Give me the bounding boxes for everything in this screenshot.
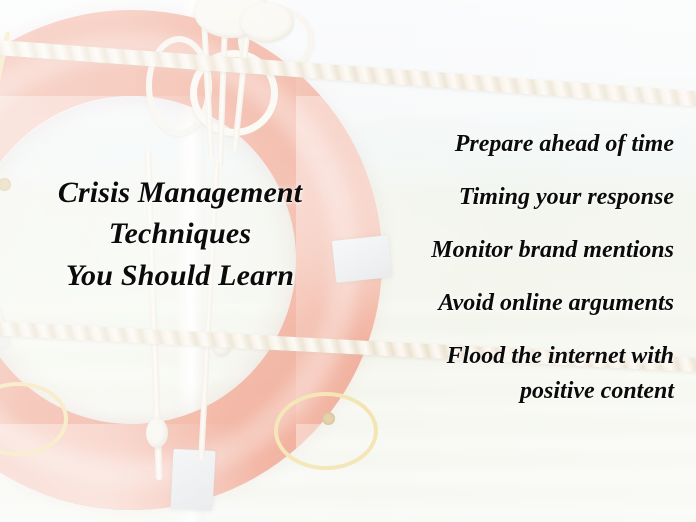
list-item-line-1: Flood the internet with: [447, 343, 674, 369]
list-item-line-2: positive content: [344, 379, 674, 403]
slide-canvas: Crisis Management Techniques You Should …: [0, 0, 696, 522]
list-item: Flood the internet with positive content: [344, 344, 674, 403]
list-item: Timing your response: [344, 185, 674, 209]
page-title: Crisis Management Techniques You Should …: [30, 172, 330, 296]
title-line-2: Techniques: [30, 213, 330, 254]
techniques-list: Prepare ahead of time Timing your respon…: [344, 132, 674, 403]
title-line-1: Crisis Management: [30, 172, 330, 213]
list-item: Monitor brand mentions: [344, 238, 674, 262]
title-line-3: You Should Learn: [30, 255, 330, 296]
list-item: Prepare ahead of time: [344, 132, 674, 156]
list-item: Avoid online arguments: [344, 291, 674, 315]
